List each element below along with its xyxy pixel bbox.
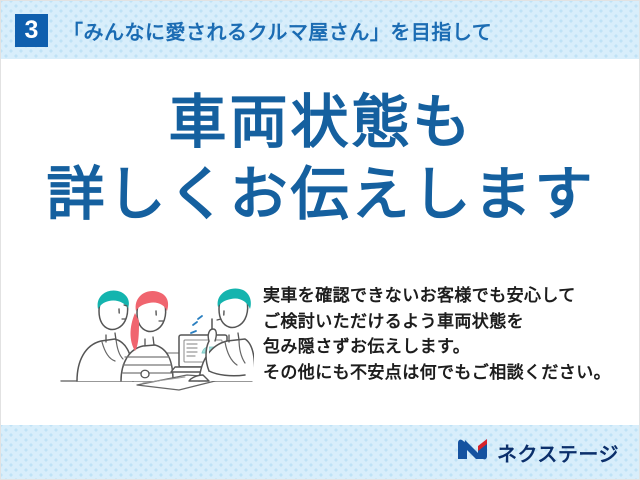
header-title: 「みんなに愛されるクルマ屋さん」を目指して	[63, 16, 492, 45]
body-copy-line-1: 実車を確認できないお客様でも安心して	[263, 283, 623, 309]
brand-lockup: ネクステージ	[456, 437, 619, 467]
body-copy-line-3: 包み隠さずお伝えします。	[263, 334, 623, 360]
body-copy-line-4: その他にも不安点は何でもご相談ください。	[263, 360, 623, 386]
body-copy: 実車を確認できないお客様でも安心して ご検討いただけるよう車両状態を 包み隠さず…	[263, 283, 623, 385]
headline-block: 車両状態も 詳しくお伝えします	[1, 87, 640, 231]
step-number-badge: 3	[15, 14, 48, 47]
headline-line-2: 詳しくお伝えします	[1, 159, 640, 231]
consultation-illustration-svg	[59, 275, 254, 393]
brand-name: ネクステージ	[497, 438, 619, 467]
nextage-n-logo-svg	[456, 437, 490, 462]
body-copy-line-2: ご検討いただけるよう車両状態を	[263, 309, 623, 335]
nextage-n-logo-icon	[456, 437, 490, 467]
banner-footer: ネクステージ	[1, 425, 640, 479]
headline-line-1: 車両状態も	[1, 87, 640, 159]
banner-header: 3 「みんなに愛されるクルマ屋さん」を目指して	[1, 1, 640, 59]
promo-banner: 3 「みんなに愛されるクルマ屋さん」を目指して 車両状態も 詳しくお伝えします	[0, 0, 640, 480]
consultation-illustration	[59, 275, 254, 393]
content-row: 実車を確認できないお客様でも安心して ご検討いただけるよう車両状態を 包み隠さず…	[1, 273, 640, 403]
